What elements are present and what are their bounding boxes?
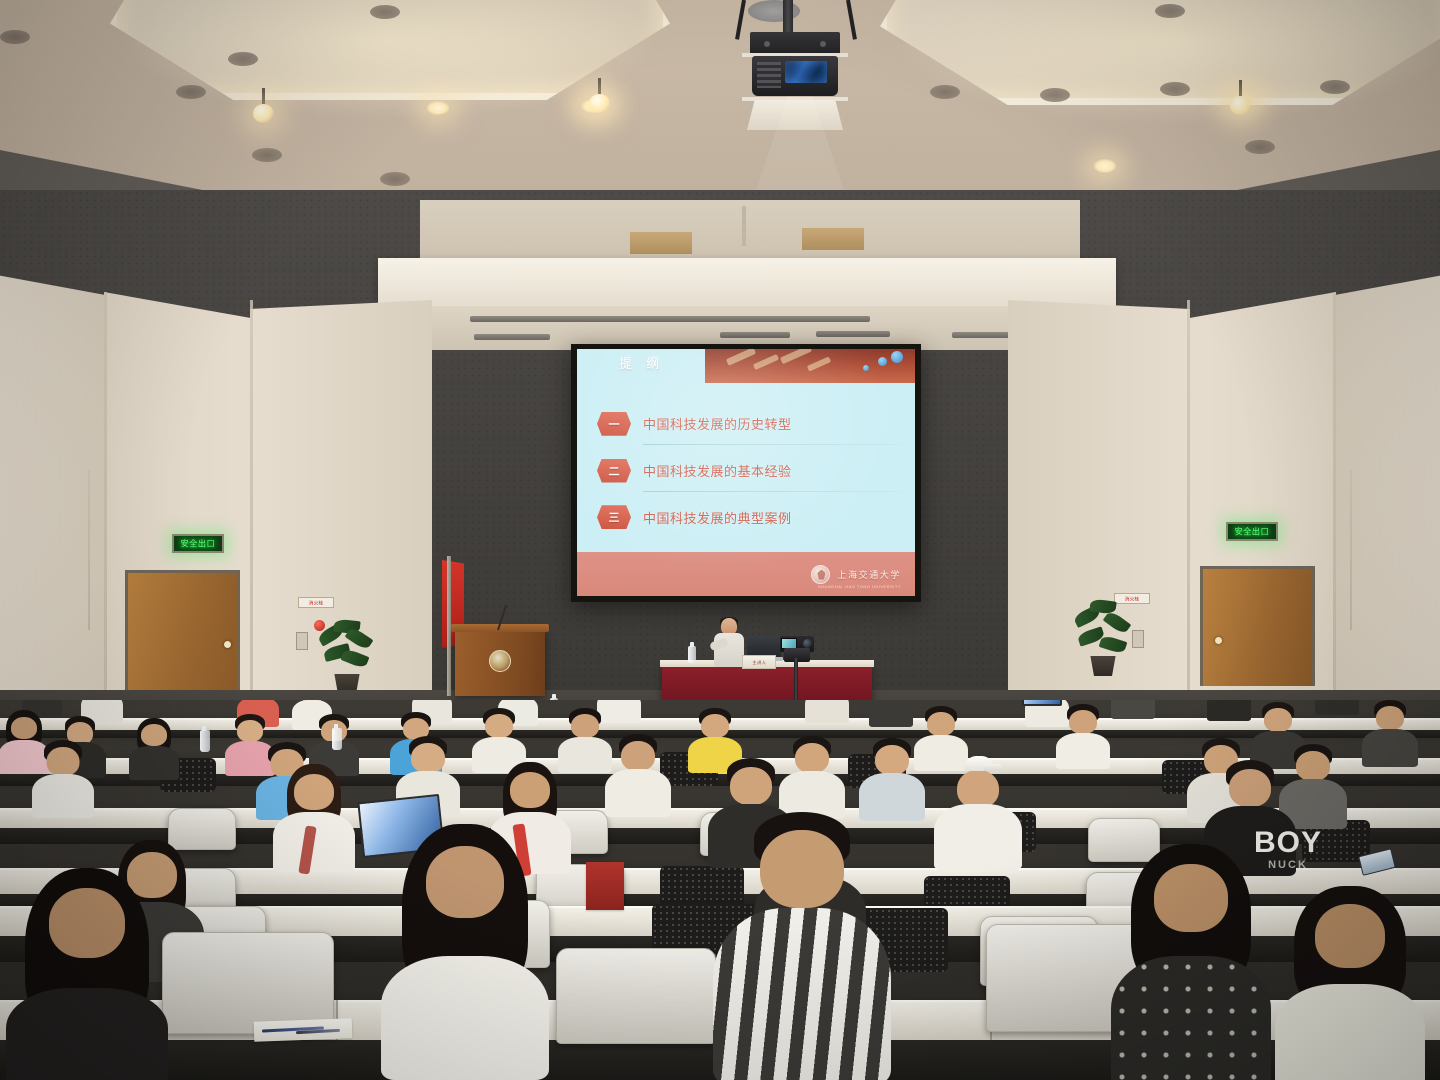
audience-member (560, 708, 610, 768)
banner-icon-dot (891, 351, 903, 363)
chair[interactable] (162, 932, 334, 1034)
air-diffuser-slot (816, 331, 890, 337)
recessed-fixture (252, 148, 282, 162)
outline-item: 一 中国科技发展的历史转型 (597, 412, 895, 436)
projector (752, 56, 838, 96)
potted-plant-right (1072, 600, 1134, 676)
slide-title: 提 纲 (619, 353, 664, 372)
sprinkler-pipe (742, 206, 746, 246)
panel-seam (1187, 300, 1190, 750)
outline-item-label: 中国科技发展的历史转型 (643, 414, 792, 433)
outline-item: 二 中国科技发展的基本经验 (597, 459, 895, 483)
wall-switch-plate-left[interactable] (296, 632, 308, 650)
fire-sign-left-label: 消火栓 (309, 599, 323, 606)
water-bottle (200, 730, 210, 752)
water-bottle (688, 646, 696, 663)
audience-member-foreground (1116, 844, 1266, 1080)
red-booklet (586, 862, 624, 910)
sjtu-seal-icon (811, 565, 830, 584)
baseball-cap (964, 756, 994, 771)
recessed-fixture (930, 85, 960, 99)
exit-sign-left: 安全出口 (172, 534, 224, 553)
pendant-light (262, 88, 265, 106)
outline-item: 三 中国科技发展的典型案例 (597, 505, 895, 529)
projection-screen: 提 纲 一 中国科技发展的历史转型 二 中国科技发展的基本经验 三 中国科 (571, 344, 921, 602)
outline-item-label: 中国科技发展的典型案例 (643, 508, 792, 527)
audience-member (1316, 700, 1358, 712)
air-diffuser-slot (470, 316, 870, 322)
recessed-fixture (370, 5, 400, 19)
wall-niche-right (802, 228, 864, 250)
stage-back-wall (420, 200, 1080, 262)
wall-panel-left-outer (0, 272, 110, 750)
banner-icon-dot (863, 365, 869, 371)
projector-keypad (757, 62, 781, 88)
audience-member-foreground (390, 824, 540, 1076)
stage-soffit (378, 258, 1116, 310)
wall-panel-right-inner (1008, 300, 1190, 750)
exit-sign-right: 安全出口 (1226, 522, 1278, 541)
slide-footer: 上海交通大学 SHANGHAI JIAO TONG UNIVERSITY (577, 552, 915, 596)
wall-niche-left (630, 232, 692, 254)
panel-reveal (88, 470, 90, 630)
outline-number-badge: 三 (597, 505, 631, 529)
audience-member (806, 700, 848, 720)
recessed-fixture (1155, 4, 1185, 18)
pendant-light (598, 78, 601, 96)
fire-hydrant-sign-left: 消火栓 (298, 597, 334, 608)
audience-member (130, 718, 178, 776)
recessed-fixture (176, 85, 206, 99)
audience-member-foreground (722, 812, 882, 1080)
audience-member (608, 734, 668, 812)
camera-lens-icon (803, 639, 812, 648)
audience-member (1282, 744, 1344, 824)
pendant-light (1239, 80, 1242, 98)
presenter (712, 618, 746, 666)
audience-member (782, 736, 842, 814)
nameplate-label: 主讲人 (752, 659, 766, 665)
recessed-fixture (1040, 88, 1070, 102)
projector-bracket (750, 32, 840, 54)
audience-member-foreground (1280, 886, 1420, 1080)
exit-door-left[interactable] (125, 570, 240, 690)
outline-underline (643, 444, 901, 445)
screen-surface: 提 纲 一 中国科技发展的历史转型 二 中国科技发展的基本经验 三 中国科 (577, 349, 915, 596)
slide-footer-university: 上海交通大学 (837, 568, 901, 581)
audience-member (474, 708, 524, 768)
slide-footer-university-subline: SHANGHAI JIAO TONG UNIVERSITY (818, 584, 901, 589)
audience-member (870, 700, 912, 724)
projector-tray (747, 100, 843, 130)
ceiling-downlight (425, 100, 451, 116)
exit-sign-right-label: 安全出口 (1235, 526, 1270, 538)
recessed-fixture (0, 30, 30, 44)
recessed-fixture (380, 172, 410, 186)
recessed-fixture (228, 52, 258, 66)
exit-sign-left-label: 安全出口 (181, 538, 216, 550)
lecture-hall-photo: 安全出口 消火栓 安全出口 消火栓 (0, 0, 1440, 1080)
chair[interactable] (556, 948, 716, 1044)
potted-plant-left (316, 618, 378, 694)
audience-member (1058, 704, 1108, 764)
air-diffuser-slot (720, 332, 790, 338)
wall-panel-right-outer (1330, 272, 1440, 750)
panel-seam (104, 292, 107, 750)
door-handle-icon[interactable] (224, 641, 231, 648)
audience-member-with-cap (938, 756, 1018, 858)
presentation-slide: 提 纲 一 中国科技发展的历史转型 二 中国科技发展的基本经验 三 中国科 (577, 349, 915, 596)
audience-member (1112, 700, 1154, 716)
door-handle-icon[interactable] (1215, 637, 1222, 644)
recessed-fixture (1320, 80, 1350, 94)
recessed-fixture (1160, 82, 1190, 96)
air-diffuser-slot (474, 334, 550, 340)
audience-seating: BOY NUCK (0, 700, 1440, 1080)
laptop[interactable] (1022, 700, 1062, 706)
outline-underline (643, 491, 901, 492)
audience-member (1364, 700, 1416, 762)
recessed-fixture (1245, 140, 1275, 154)
audience-member-foreground (12, 868, 162, 1080)
panel-seam (250, 300, 253, 750)
university-crest-icon (489, 650, 511, 672)
audience-member (34, 740, 92, 814)
water-bottle (332, 728, 342, 750)
outline-number-badge: 二 (597, 459, 631, 483)
audience-member (862, 738, 922, 816)
air-diffuser-slot (952, 332, 1014, 338)
panel-reveal (1350, 470, 1352, 630)
audience-member (1208, 700, 1250, 718)
projector-lens (785, 61, 827, 83)
outline-item-label: 中国科技发展的基本经验 (643, 461, 792, 480)
panel-seam (1333, 292, 1336, 750)
exit-door-right[interactable] (1200, 566, 1315, 686)
slide-outline-list: 一 中国科技发展的历史转型 二 中国科技发展的基本经验 三 中国科技发展的典型案… (577, 383, 915, 552)
audience-member (276, 764, 352, 860)
ceiling-downlight (1092, 158, 1118, 174)
outline-number-badge: 一 (597, 412, 631, 436)
banner-icon-dot (878, 357, 887, 366)
